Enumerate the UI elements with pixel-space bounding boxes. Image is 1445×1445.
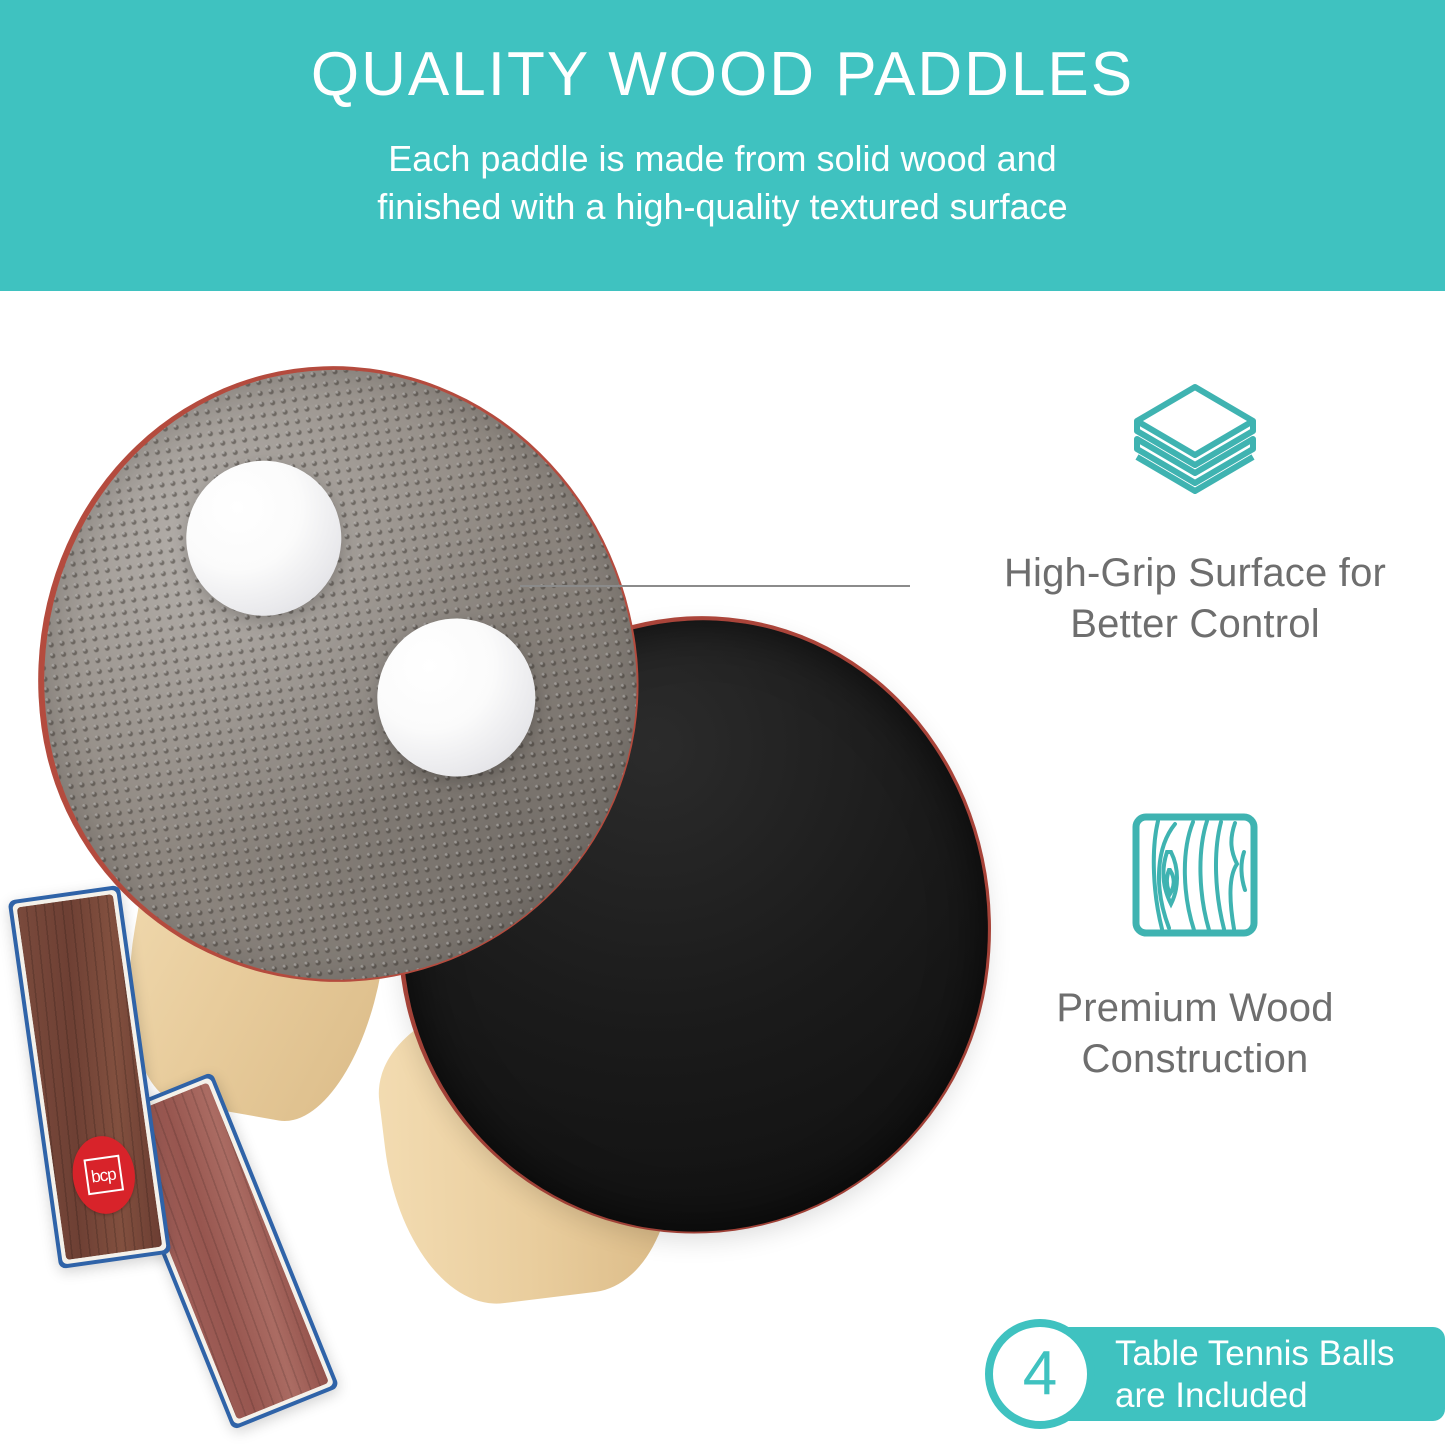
feature-line-2: Better Control: [1004, 599, 1386, 650]
feature-label: Premium Wood Construction: [1056, 983, 1333, 1085]
subtitle-line-1: Each paddle is made from solid wood and: [377, 135, 1067, 183]
page-subtitle: Each paddle is made from solid wood and …: [377, 135, 1067, 231]
badge-line-2: are Included: [1115, 1375, 1435, 1417]
badge-line-1: Table Tennis Balls: [1115, 1333, 1435, 1375]
feature-high-grip-surface: High-Grip Surface for Better Control: [945, 376, 1445, 650]
page-title: QUALITY WOOD PADDLES: [311, 42, 1134, 107]
feature-line-2: Construction: [1056, 1034, 1333, 1085]
feature-premium-wood: Premium Wood Construction: [945, 811, 1445, 1085]
included-balls-badge: 4 Table Tennis Balls are Included: [985, 1319, 1445, 1429]
badge-count-circle: 4: [985, 1319, 1095, 1429]
feature-line-1: Premium Wood: [1056, 983, 1333, 1034]
badge-label: Table Tennis Balls are Included: [1115, 1333, 1435, 1417]
subtitle-line-2: finished with a high-quality textured su…: [377, 183, 1067, 231]
feature-line-1: High-Grip Surface for: [1004, 548, 1386, 599]
badge-count: 4: [1023, 1343, 1057, 1405]
header-banner: QUALITY WOOD PADDLES Each paddle is made…: [0, 0, 1445, 291]
stacked-layers-icon: [1131, 376, 1259, 504]
callout-leader-line: [520, 585, 910, 587]
brand-logo-text: bcp: [83, 1155, 124, 1196]
wood-grain-icon: [1131, 811, 1259, 939]
feature-label: High-Grip Surface for Better Control: [1004, 548, 1386, 650]
